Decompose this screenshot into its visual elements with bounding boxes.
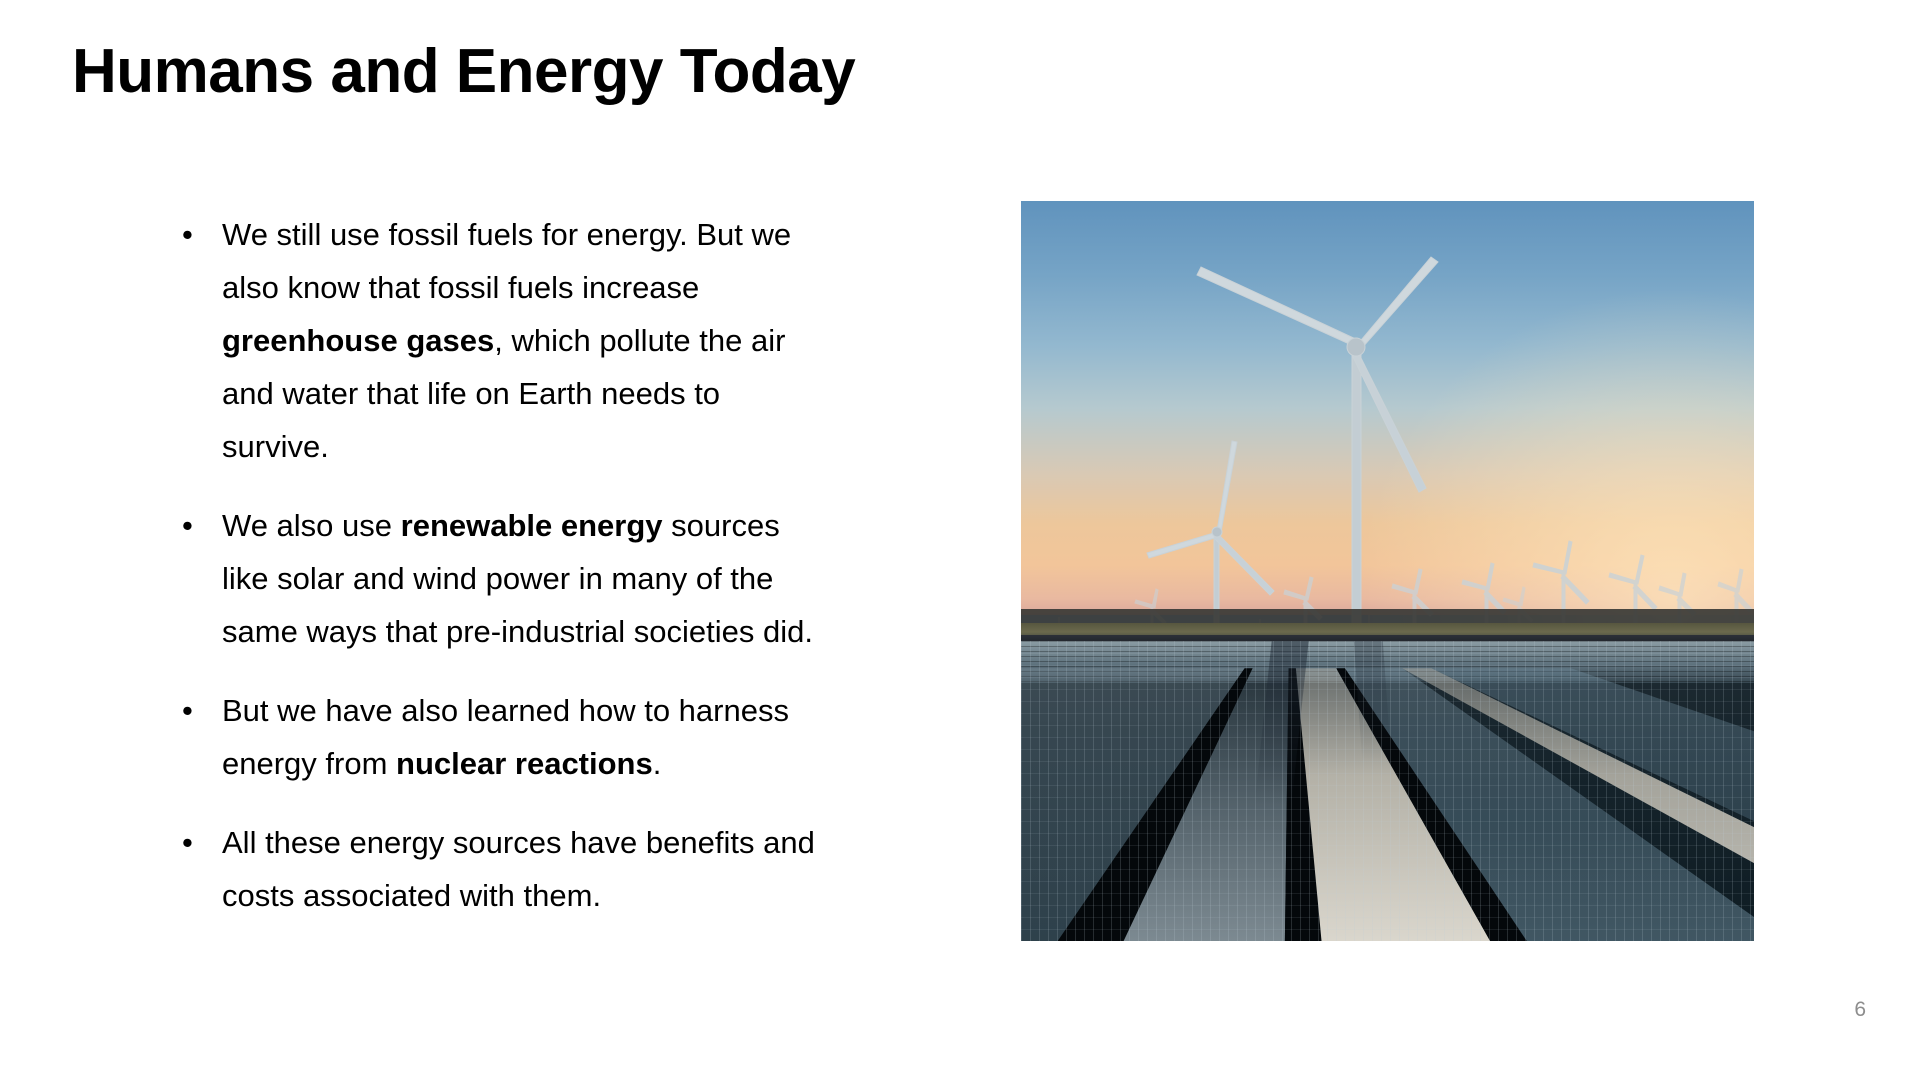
list-item-text: All these energy sources have benefits a… <box>222 816 818 922</box>
emphasized-term: greenhouse gases <box>222 323 494 358</box>
list-item-text: But we have also learned how to harness … <box>222 684 818 790</box>
list-item: •All these energy sources have benefits … <box>178 816 818 922</box>
list-item: •We still use fossil fuels for energy. B… <box>178 208 818 473</box>
list-item: •But we have also learned how to harness… <box>178 684 818 790</box>
wind-turbine-layer <box>1021 201 1754 645</box>
page-title: Humans and Energy Today <box>72 38 855 106</box>
energy-photo <box>1021 201 1754 941</box>
wind-turbines-icon <box>1021 201 1754 645</box>
text-run: All these energy sources have benefits a… <box>222 825 815 913</box>
page-number: 6 <box>1854 998 1866 1022</box>
solar-panel-field <box>1021 641 1754 941</box>
emphasized-term: renewable energy <box>401 508 663 543</box>
list-item: •We also use renewable energy sources li… <box>178 499 818 658</box>
photo-content <box>1021 201 1754 941</box>
bullet-marker-icon: • <box>178 208 222 261</box>
text-run: We still use fossil fuels for energy. Bu… <box>222 217 791 305</box>
bullet-marker-icon: • <box>178 816 222 869</box>
text-run: . <box>653 746 662 781</box>
bullet-marker-icon: • <box>178 499 222 552</box>
list-item-text: We still use fossil fuels for energy. Bu… <box>222 208 818 473</box>
list-item-text: We also use renewable energy sources lik… <box>222 499 818 658</box>
text-run: We also use <box>222 508 401 543</box>
slide-canvas: Humans and Energy Today •We still use fo… <box>0 0 1920 1080</box>
bullet-list: •We still use fossil fuels for energy. B… <box>178 208 818 922</box>
emphasized-term: nuclear reactions <box>396 746 653 781</box>
tree-line <box>1021 609 1754 623</box>
bullet-marker-icon: • <box>178 684 222 737</box>
